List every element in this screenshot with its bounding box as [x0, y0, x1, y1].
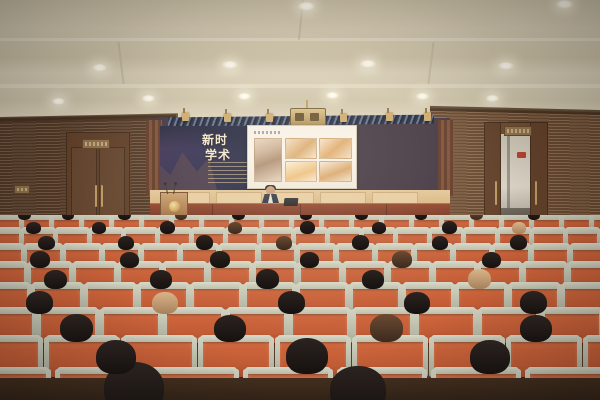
downlight [498, 62, 514, 70]
seat-top-frame [297, 243, 336, 250]
audience-member-head [152, 292, 178, 314]
audience-member-head [60, 314, 93, 342]
audience-member-head [160, 221, 175, 234]
wall-plate-glyphs [17, 188, 27, 191]
audience-member-head [300, 221, 315, 234]
downlight [326, 92, 339, 99]
downlight [52, 98, 65, 105]
stage-spotlight-icon [340, 113, 347, 122]
seat-top-frame [0, 367, 49, 374]
audience-member-head [482, 252, 501, 268]
seat-top-frame [191, 282, 242, 289]
audience-member-head [256, 269, 279, 289]
seat-top-frame [523, 261, 567, 268]
audience-member-head [520, 315, 552, 342]
corridor-notice-sign [517, 152, 526, 158]
audience-seating [0, 215, 600, 400]
stage-curtain-right [438, 120, 454, 196]
audience-member-head [276, 236, 292, 250]
downlight [360, 60, 376, 68]
left-wall-plate [14, 185, 30, 194]
seat-top-frame [395, 227, 430, 234]
aisle-floor [0, 378, 600, 400]
audience-member-head [96, 340, 136, 374]
audience-member-head [442, 221, 457, 234]
slide-thumbnail-top-right [319, 138, 352, 159]
ceiling-projector [290, 108, 326, 126]
downlight [238, 93, 251, 100]
presenter-head [266, 186, 275, 195]
seat-top-frame [375, 243, 414, 250]
right-door-handle-right[interactable] [535, 181, 537, 205]
backdrop-title-line2: 学术 [205, 146, 231, 163]
audience-member-head [196, 235, 213, 250]
seat-top-frame [55, 227, 90, 234]
audience-member-head [228, 222, 242, 234]
audience-member-head [278, 291, 305, 314]
seat-top-frame [191, 227, 226, 234]
audience-member-head [44, 270, 67, 289]
audience-member-head [404, 292, 430, 314]
projector-lens-secondary [310, 113, 319, 121]
door-handle-right[interactable] [101, 185, 103, 207]
audience-member-head [352, 235, 369, 250]
auditorium-photo: 新时 学术 [0, 0, 600, 400]
slide-thumbnail-bottom-right [319, 161, 352, 182]
stage-spotlight-icon [224, 113, 231, 122]
ceiling-trim-band-2 [0, 84, 600, 88]
downlight [222, 61, 238, 69]
seat-top-frame [327, 227, 362, 234]
audience-member-head [432, 236, 448, 250]
seat-top-frame [85, 282, 136, 289]
downlight [486, 95, 499, 102]
left-exit-sign [82, 139, 110, 149]
slide-thumbnail-large [254, 138, 282, 182]
seat-top-frame [141, 243, 180, 250]
seat-top-frame [403, 282, 454, 289]
audience-member-head [370, 314, 403, 342]
audience-member-head [26, 222, 41, 234]
seat-top-frame [433, 261, 477, 268]
audience-member-head [214, 315, 246, 342]
seat-top-frame [0, 261, 27, 268]
audience-member-head [520, 291, 547, 314]
ceiling-seam-3 [427, 42, 434, 84]
exit-sign-glyphs [85, 142, 107, 146]
seat-top-frame [151, 367, 237, 374]
audience-member-head [120, 252, 139, 268]
audience-member-head [210, 251, 230, 268]
stage-spotlight-icon [424, 112, 431, 121]
slide-header [254, 131, 282, 134]
seat-top-frame [253, 261, 297, 268]
seat-top-frame [570, 243, 600, 250]
audience-member-head [392, 251, 412, 268]
downlight [298, 2, 315, 11]
lectern-emblem [169, 201, 180, 212]
seat-top-frame [297, 282, 348, 289]
projection-screen [247, 125, 357, 189]
stage-apron [150, 190, 450, 204]
audience-member-head [286, 338, 328, 374]
slide-thumbnail-bottom-left [285, 161, 317, 182]
seat-top-frame [163, 261, 207, 268]
audience-member-head [38, 236, 55, 250]
slide-thumbnail-top-left [285, 138, 317, 159]
seat-top-frame [562, 282, 600, 289]
seat-top-frame [343, 261, 387, 268]
right-exit-sign [504, 126, 532, 136]
audience-member-head [150, 270, 172, 289]
stage-spotlight-icon [182, 112, 189, 121]
projector-lens [295, 113, 304, 121]
audience-member-head [510, 235, 527, 250]
seat-top-frame [0, 282, 30, 289]
seat-top-frame [73, 261, 117, 268]
seat-top-frame [453, 243, 492, 250]
audience-member-head [362, 270, 384, 289]
seat-top-frame [531, 243, 570, 250]
audience-member-head [372, 222, 386, 234]
audience-member-head [118, 236, 134, 250]
door-handle-left[interactable] [95, 185, 97, 207]
seat-top-frame [531, 227, 566, 234]
audience-member-head [468, 269, 491, 289]
seat-top-frame [123, 227, 158, 234]
downlight [92, 64, 107, 72]
audience-member-head [470, 340, 510, 374]
seat-top-frame [0, 335, 41, 342]
downlight [556, 0, 573, 9]
seat-top-frame [509, 282, 560, 289]
seat-top-frame [463, 227, 498, 234]
seat-top-frame [568, 261, 600, 268]
audience-member-head [30, 251, 50, 268]
ceiling-seam-2 [117, 42, 124, 84]
stage-spotlight-icon [386, 112, 393, 121]
backdrop-subtitle-lines [208, 162, 252, 184]
seat-top-frame [565, 227, 600, 234]
presenter-laptop [284, 198, 299, 206]
audience-member-head [300, 252, 319, 268]
audience-member-head [92, 222, 106, 234]
stage-spotlight-icon [266, 113, 273, 122]
seat-top-frame [63, 243, 102, 250]
seat-top-frame [527, 367, 600, 374]
audience-member-head [512, 222, 526, 234]
audience-member-head [26, 291, 53, 314]
downlight [416, 93, 429, 100]
seat-top-frame [542, 307, 600, 314]
seat-top-frame [219, 243, 258, 250]
downlight [142, 95, 155, 102]
exit-sign-glyphs [507, 129, 529, 133]
seat-top-frame [123, 335, 195, 342]
seat-top-frame [259, 227, 294, 234]
right-door-handle-left[interactable] [495, 181, 497, 205]
